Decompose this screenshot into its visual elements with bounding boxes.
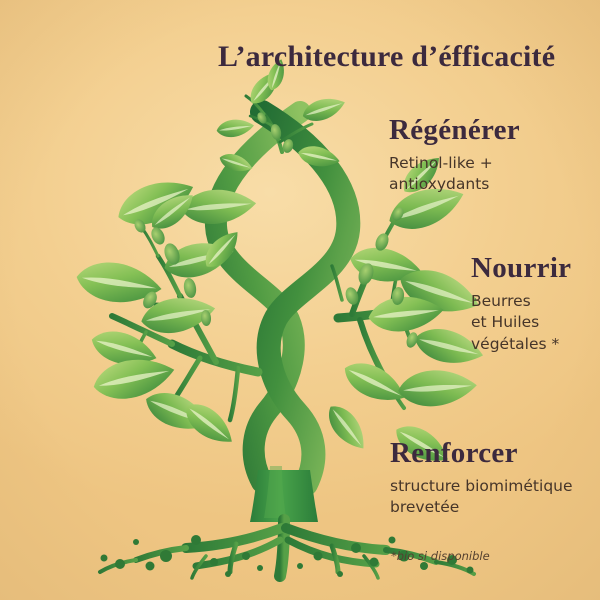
page-title: L’architecture d’éfficacité bbox=[218, 40, 555, 74]
feature-block-regenerer: Régénérer Retinol-like + antioxydants bbox=[389, 114, 520, 196]
feature-heading-nourrir: Nourrir bbox=[471, 252, 571, 285]
feature-block-renforcer: Renforcer structure biomimétique breveté… bbox=[390, 437, 573, 519]
feature-body-renforcer: structure biomimétique brevetée bbox=[390, 476, 573, 519]
footnote: *bio si disponible bbox=[391, 549, 490, 563]
feature-body-regenerer: Retinol-like + antioxydants bbox=[389, 153, 520, 196]
feature-body-nourrir: Beurres et Huiles végétales * bbox=[471, 291, 571, 355]
feature-block-nourrir: Nourrir Beurres et Huiles végétales * bbox=[471, 252, 571, 355]
feature-heading-renforcer: Renforcer bbox=[390, 437, 573, 470]
poster-canvas: L’architecture d’éfficacité Régénérer Re… bbox=[0, 0, 600, 600]
left-branch bbox=[74, 170, 258, 452]
tree-trunk bbox=[250, 466, 318, 522]
left-leaves bbox=[74, 170, 258, 452]
feature-heading-regenerer: Régénérer bbox=[389, 114, 520, 147]
